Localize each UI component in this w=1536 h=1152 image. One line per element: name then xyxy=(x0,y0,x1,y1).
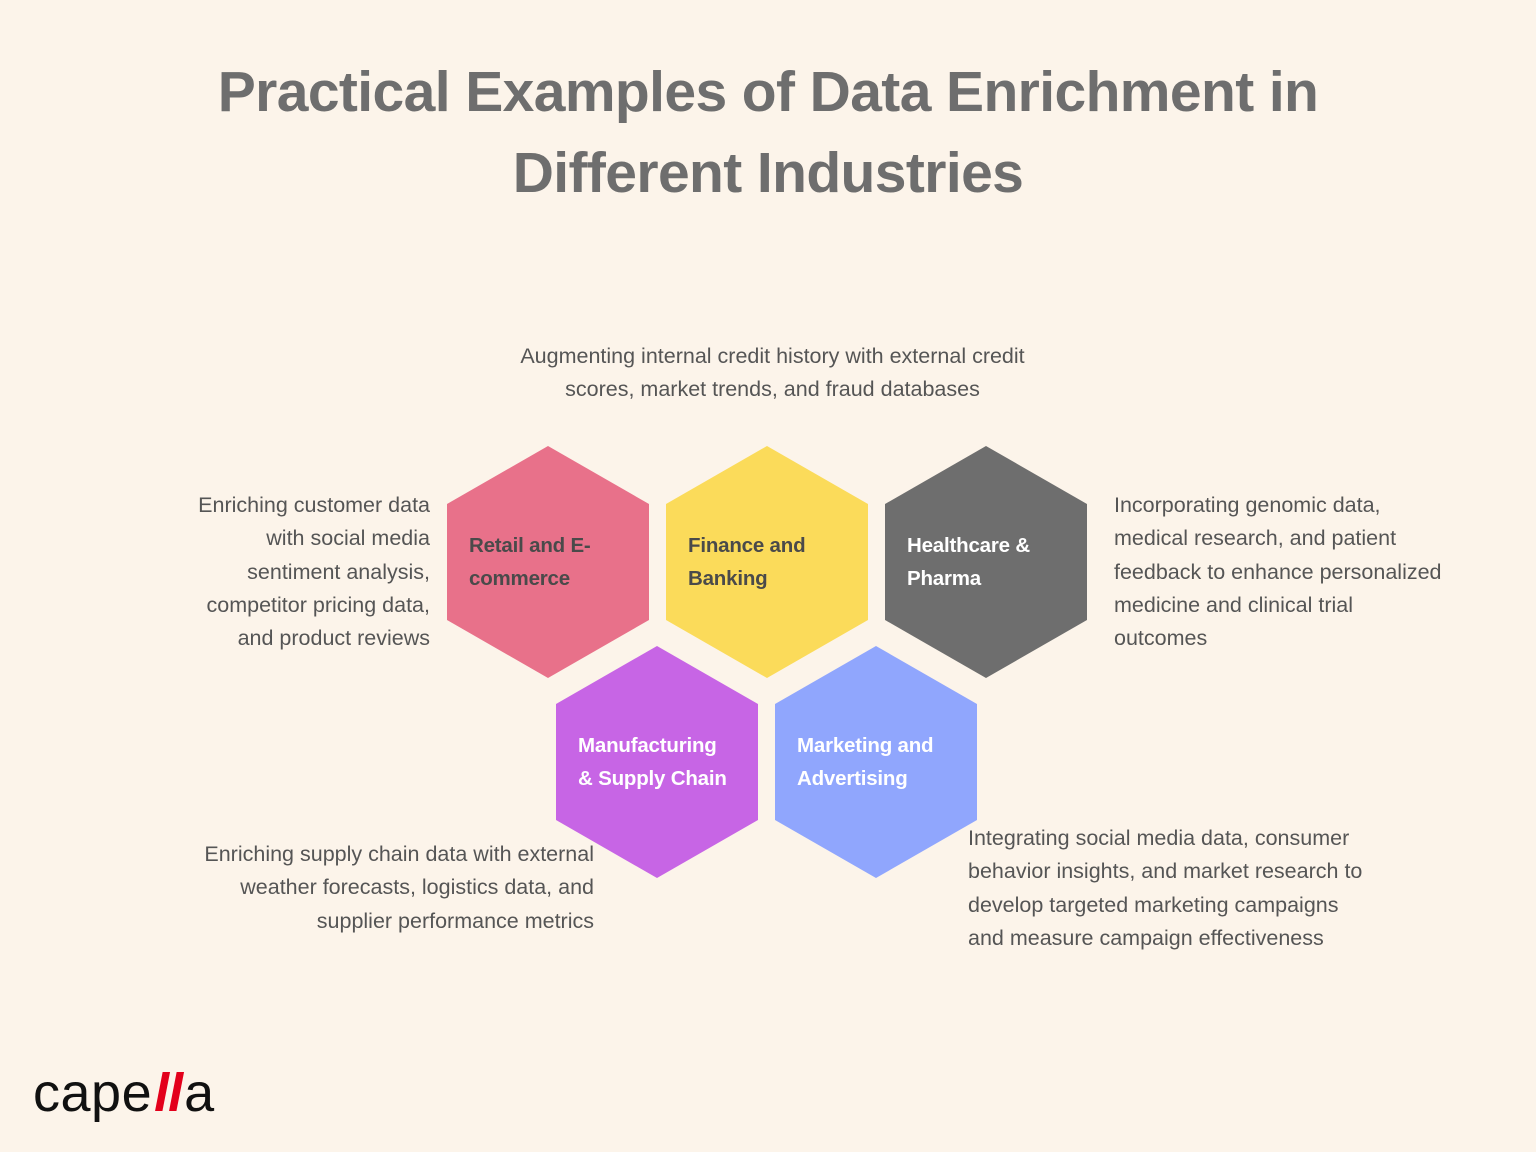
capella-logo: capella xyxy=(33,1066,215,1120)
logo-text-part-a: cape xyxy=(33,1066,152,1120)
hexagon-healthcare-and-pharma[interactable]: Healthcare & Pharma xyxy=(885,446,1087,678)
hexagon-label-finance-and-banking: Finance and Banking xyxy=(666,529,868,595)
hexagon-label-healthcare-and-pharma: Healthcare & Pharma xyxy=(885,529,1087,595)
description-finance-and-banking: Augmenting internal credit history with … xyxy=(515,340,1030,407)
hexagon-label-retail-and-ecommerce: Retail and E-commerce xyxy=(447,529,649,595)
hexagon-marketing-and-advertising[interactable]: Marketing and Advertising xyxy=(775,646,977,878)
logo-text-part-c: a xyxy=(184,1066,215,1120)
description-healthcare-and-pharma: Incorporating genomic data, medical rese… xyxy=(1114,489,1444,656)
hexagon-label-marketing-and-advertising: Marketing and Advertising xyxy=(775,729,977,795)
hexagon-finance-and-banking[interactable]: Finance and Banking xyxy=(666,446,868,678)
description-retail-and-ecommerce: Enriching customer data with social medi… xyxy=(168,489,430,656)
description-marketing-and-advertising: Integrating social media data, consumer … xyxy=(968,822,1368,955)
logo-accent-ll: ll xyxy=(152,1066,184,1120)
hexagon-label-manufacturing-and-supply-chain: Manufacturing & Supply Chain xyxy=(556,729,758,795)
hexagon-retail-and-ecommerce[interactable]: Retail and E-commerce xyxy=(447,446,649,678)
hexagon-diagram: Augmenting internal credit history with … xyxy=(0,0,1536,1152)
description-manufacturing-and-supply-chain: Enriching supply chain data with externa… xyxy=(196,838,594,938)
